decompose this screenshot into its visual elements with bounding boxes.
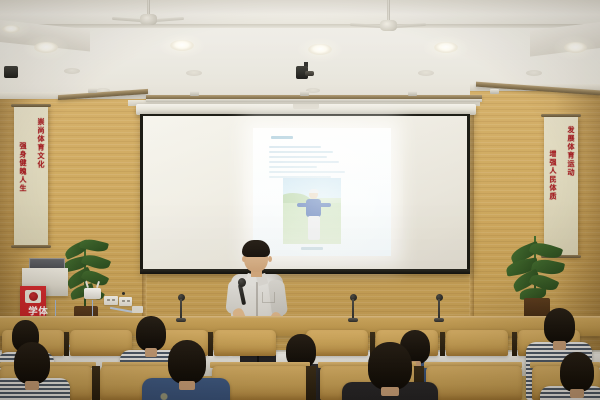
- ceiling-fan-2: [366, 0, 410, 30]
- seat-divider: [306, 366, 316, 400]
- scroll-rod-top: [11, 104, 51, 107]
- ceiling-fan-1: [126, 0, 170, 26]
- audience-neck: [145, 348, 157, 357]
- university-seal-icon: [25, 290, 41, 303]
- desk-microphone-2: [348, 294, 358, 322]
- left-scroll-column-left: 强身健魄人生: [19, 142, 26, 193]
- slide-text-line: [269, 171, 345, 173]
- rail-clip: [490, 89, 499, 94]
- sidebar-item-left-scroll: 崇尚体育文化 强身健魄人生: [14, 106, 48, 246]
- ceiling-light-1: [34, 42, 58, 53]
- audience-neck: [25, 381, 39, 390]
- audience-head: [136, 316, 166, 351]
- right-scroll-column-right: 发展体育运动: [567, 126, 574, 177]
- ceiling-bulkhead: [0, 0, 600, 26]
- power-outlet-2[interactable]: [119, 297, 132, 306]
- audience-head: [14, 342, 50, 384]
- desk-microphone-3: [434, 296, 444, 322]
- wall-plug: [132, 306, 143, 313]
- seat-back[interactable]: [214, 330, 276, 356]
- smoke-detector-3: [418, 70, 434, 76]
- seat-divider: [64, 332, 69, 356]
- projection-screen: [140, 114, 470, 274]
- seat-divider: [208, 332, 213, 356]
- right-scroll-column-left: 增强人民体质: [549, 150, 556, 201]
- scroll-rod-bottom: [11, 245, 51, 248]
- presenter-shirt-pocket: [262, 292, 275, 303]
- audience-neck: [553, 341, 565, 350]
- photo-person-torso: [306, 199, 321, 217]
- left-scroll-column-right: 崇尚体育文化: [37, 118, 44, 169]
- screen-bottom-bar: [140, 269, 470, 274]
- mic-base: [348, 318, 358, 322]
- slide-caption-bar: [301, 247, 323, 250]
- ceiling-light-2: [170, 40, 194, 51]
- screen-housing-cap: [293, 104, 319, 109]
- scroll-rod-top: [541, 114, 581, 117]
- slide-text-line: [269, 161, 339, 163]
- presenter-ear-right: [268, 256, 272, 262]
- slide-text-line: [269, 151, 333, 153]
- seat-divider: [440, 332, 445, 356]
- audience-head: [368, 342, 412, 390]
- projector-body: [4, 66, 18, 78]
- slide-photo: [283, 178, 341, 244]
- slide-text-line: [269, 156, 327, 158]
- audience-hair: [560, 352, 594, 392]
- seat-back[interactable]: [426, 366, 522, 400]
- seat-divider: [512, 332, 517, 356]
- screen-surface: [143, 116, 467, 270]
- microphone-icon: [238, 278, 246, 287]
- mic-rod: [180, 299, 182, 319]
- audience-head: [544, 308, 575, 344]
- rail-clip: [408, 91, 417, 96]
- fan-motor: [380, 20, 397, 31]
- outlet-slot: [122, 300, 125, 302]
- photo-person: [307, 190, 320, 239]
- audience-hair: [368, 342, 412, 390]
- mic-base: [434, 318, 444, 322]
- fan-motor: [140, 14, 157, 25]
- smoke-detector-1: [64, 68, 80, 74]
- desk-microphone-1: [176, 294, 186, 322]
- audience-head: [168, 340, 206, 384]
- rail-clip: [88, 88, 97, 93]
- slide-text-line: [269, 166, 317, 168]
- audience-neck: [381, 387, 399, 396]
- mic-rod: [352, 299, 354, 319]
- audience-neck: [570, 389, 584, 398]
- ceiling-light-6: [2, 25, 20, 33]
- seal-inner: [29, 292, 38, 301]
- rail-clip: [190, 91, 199, 96]
- fan-rod: [387, 0, 390, 22]
- audience-neck: [179, 381, 194, 390]
- outlet-slot: [112, 299, 115, 301]
- bulkhead-edge: [0, 24, 600, 28]
- camera-lens: [305, 71, 314, 76]
- sidebar-item-right-scroll: 发展体育运动 增强人民体质: [544, 116, 578, 256]
- wall-sensor: [122, 292, 125, 295]
- presenter-hair: [242, 240, 270, 257]
- mic-rod: [438, 299, 440, 319]
- camera-icon: [296, 62, 316, 80]
- audience-hair: [136, 316, 166, 351]
- seat-divider: [92, 366, 100, 400]
- ceiling-light-3: [308, 44, 332, 55]
- audience-hair: [14, 342, 50, 384]
- slide-text-line: [269, 146, 321, 148]
- photo-person-legs: [308, 216, 320, 240]
- ceiling-light-5: [564, 42, 587, 53]
- seat-back[interactable]: [446, 330, 508, 356]
- audience-hair: [168, 340, 206, 384]
- rail-highlight: [146, 99, 482, 102]
- audience-head: [560, 352, 594, 392]
- outlet-slot: [127, 300, 130, 302]
- wifi-router: [84, 288, 101, 299]
- mic-base: [176, 318, 186, 322]
- slide-title-bar: [271, 136, 293, 139]
- audience-hair: [544, 308, 575, 344]
- photo-person-cap: [309, 189, 319, 193]
- rail-clip: [300, 91, 309, 96]
- smoke-detector-2: [186, 70, 202, 76]
- ceiling-light-4: [434, 42, 458, 53]
- smoke-detector-4: [526, 70, 542, 76]
- lecture-hall-photo: 崇尚体育文化 强身健魄人生 发展体育运动 增强人民体质: [0, 0, 600, 400]
- projector-icon: [4, 62, 24, 78]
